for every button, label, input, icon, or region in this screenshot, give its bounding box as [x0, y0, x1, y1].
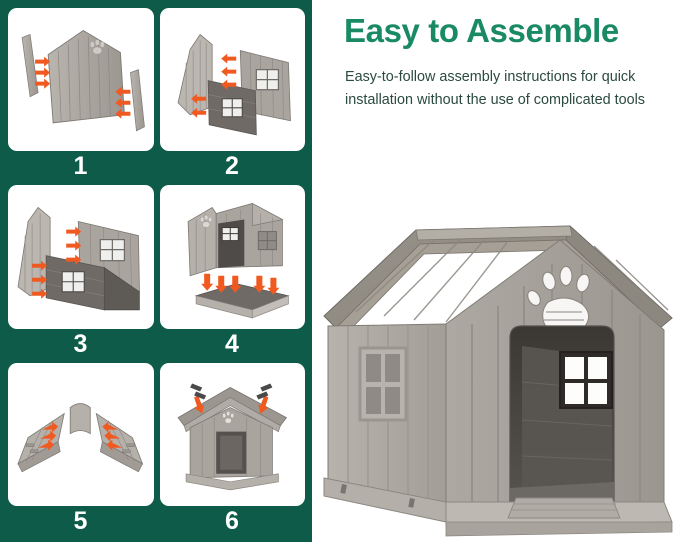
- step-5-illustration: [8, 363, 154, 506]
- arrow-group-left: [35, 57, 50, 89]
- step-5-number: 5: [8, 506, 154, 536]
- step-4: 4: [160, 185, 306, 358]
- step-4-number: 4: [160, 329, 306, 359]
- page-title: Easy to Assemble: [344, 12, 674, 50]
- step-4-illustration: [160, 185, 306, 328]
- step-4-card: [160, 185, 306, 328]
- step-6-number: 6: [160, 506, 306, 536]
- step-5: 5: [8, 363, 154, 536]
- arrow-group-right: [115, 87, 130, 119]
- step-2-number: 2: [160, 151, 306, 181]
- step-3-illustration: [8, 185, 154, 328]
- step-2: 2: [160, 8, 306, 181]
- step-2-illustration: [160, 8, 306, 151]
- front-window: [560, 352, 612, 408]
- step-1: 1: [8, 8, 154, 181]
- step-1-number: 1: [8, 151, 154, 181]
- step-6-card: [160, 363, 306, 506]
- assembly-steps-panel: 1: [0, 0, 312, 542]
- product-image-dog-house: [320, 206, 679, 542]
- step-5-card: [8, 363, 154, 506]
- step-1-card: [8, 8, 154, 151]
- step-2-card: [160, 8, 306, 151]
- step-6: 6: [160, 363, 306, 536]
- step-3-number: 3: [8, 329, 154, 359]
- step-3-card: [8, 185, 154, 328]
- page-subtitle: Easy-to-follow assembly instructions for…: [345, 66, 667, 113]
- step-6-illustration: [160, 363, 306, 506]
- step-1-illustration: [8, 8, 154, 151]
- step-3: 3: [8, 185, 154, 358]
- side-window: [360, 348, 406, 420]
